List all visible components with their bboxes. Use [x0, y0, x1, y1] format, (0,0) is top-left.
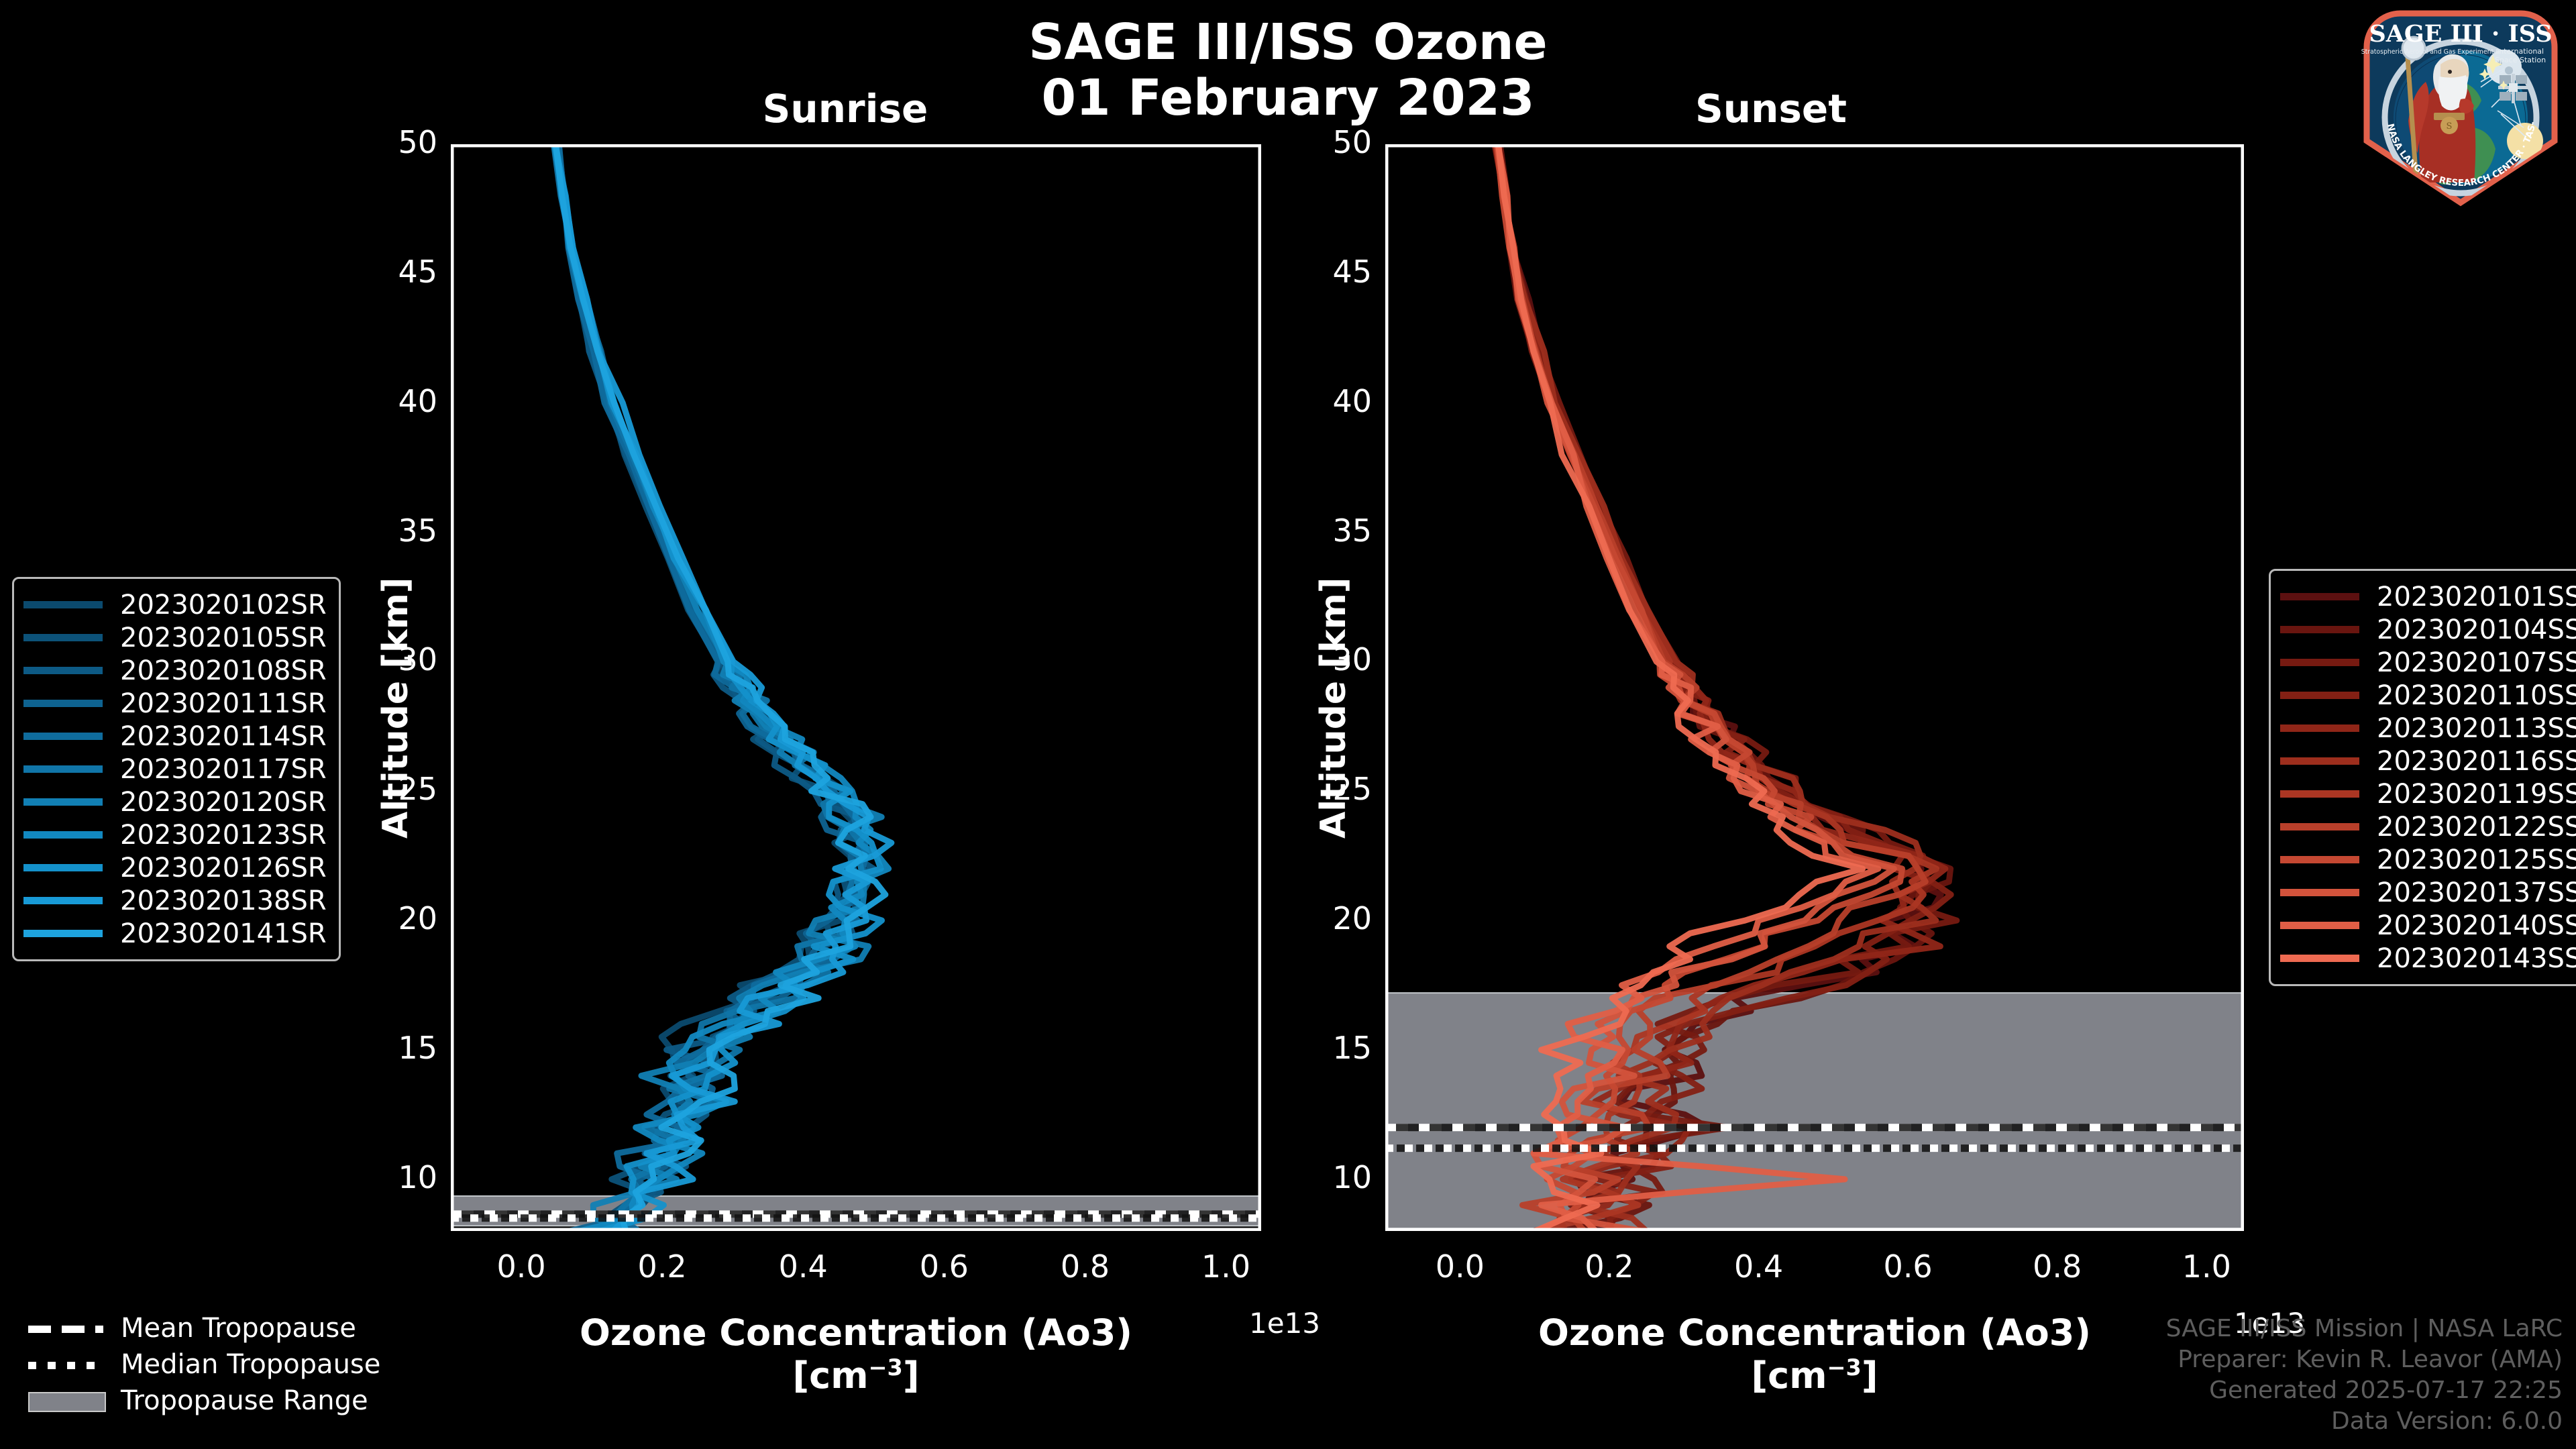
sunset-legend-item[interactable]: 2023020119SS [2280, 777, 2576, 810]
tropopause-range-label: Tropopause Range [121, 1385, 368, 1416]
legend-color-swatch [23, 864, 103, 871]
sunset-legend[interactable]: 2023020101SS2023020104SS2023020107SS2023… [2269, 569, 2576, 986]
tropopause-legend-mean: Mean Tropopause [28, 1311, 380, 1345]
sunrise-y-tick-label: 35 [378, 513, 437, 549]
sunrise-legend-item[interactable]: 2023020138SR [23, 884, 327, 917]
title-line-2: 01 February 2023 [0, 70, 2576, 126]
sunset-x-tick-label: 0.0 [1419, 1248, 1500, 1285]
legend-color-swatch [23, 733, 103, 740]
sunset-x-tick-label: 0.8 [2017, 1248, 2098, 1285]
legend-color-swatch [23, 930, 103, 937]
dotted-line-icon [28, 1356, 103, 1373]
legend-color-swatch [2280, 856, 2359, 863]
page-title: SAGE III/ISS Ozone 01 February 2023 [0, 15, 2576, 126]
legend-item-label: 2023020105SR [120, 623, 327, 653]
sunrise-x-tick-label: 0.4 [763, 1248, 843, 1285]
title-line-1: SAGE III/ISS Ozone [0, 15, 2576, 70]
sunrise-y-tick-label: 20 [378, 900, 437, 936]
legend-color-swatch [2280, 692, 2359, 699]
footer-line-2: Preparer: Kevin R. Leavor (AMA) [2166, 1344, 2563, 1375]
sunset-panel-title: Sunset [1583, 86, 1959, 131]
sunrise-legend-item[interactable]: 2023020120SR [23, 786, 327, 818]
footer-credits: SAGE III/ISS Mission | NASA LaRC Prepare… [2166, 1313, 2563, 1437]
mean-tropopause-label: Mean Tropopause [121, 1313, 356, 1344]
legend-color-swatch [23, 601, 103, 608]
sunset-legend-item[interactable]: 2023020113SS [2280, 712, 2576, 745]
legend-color-swatch [23, 634, 103, 641]
legend-color-swatch [23, 700, 103, 707]
sunrise-y-tick-label: 50 [378, 124, 437, 160]
legend-color-swatch [2280, 889, 2359, 896]
sunrise-legend-item[interactable]: 2023020108SR [23, 654, 327, 687]
sunrise-x-axis-label-line2: [cm−3] [453, 1354, 1258, 1397]
sunset-legend-item[interactable]: 2023020125SS [2280, 843, 2576, 876]
legend-color-swatch [2280, 922, 2359, 929]
sunrise-panel-title: Sunrise [657, 86, 1033, 131]
sunrise-x-tick-label: 0.6 [904, 1248, 984, 1285]
sunrise-plot [451, 144, 1261, 1231]
sunrise-legend-item[interactable]: 2023020141SR [23, 917, 327, 950]
sunset-y-axis-label: Altitude [km] [1313, 577, 1354, 839]
legend-color-swatch [23, 831, 103, 839]
plot-frame [452, 146, 1260, 1230]
iss-icon [2498, 74, 2529, 103]
sunrise-x-axis-label-line1: Ozone Concentration (Ao3) [453, 1311, 1258, 1354]
sunset-y-tick-label: 10 [1313, 1159, 1372, 1195]
legend-color-swatch [23, 667, 103, 674]
ozone-profile-line [557, 144, 861, 1231]
sunrise-legend-item[interactable]: 2023020123SR [23, 818, 327, 851]
legend-item-label: 2023020138SR [120, 885, 327, 916]
sunset-y-tick-label: 45 [1313, 254, 1372, 290]
legend-item-label: 2023020137SS [2377, 877, 2576, 908]
sunset-legend-item[interactable]: 2023020107SS [2280, 646, 2576, 679]
sunset-x-tick-label: 0.2 [1569, 1248, 1650, 1285]
sunrise-plot-svg [451, 144, 1261, 1231]
sunrise-x-tick-label: 0.0 [481, 1248, 561, 1285]
sunset-legend-item[interactable]: 2023020143SS [2280, 942, 2576, 975]
ozone-profile-line [554, 144, 868, 1231]
logo-subtitle-left: Stratospheric Aerosol and Gas Experiment… [2361, 48, 2502, 56]
legend-item-label: 2023020143SS [2377, 943, 2576, 974]
sunset-plot-svg [1385, 144, 2244, 1231]
sunset-y-tick-label: 40 [1313, 383, 1372, 419]
legend-color-swatch [23, 765, 103, 773]
sunrise-x-axis-label: Ozone Concentration (Ao3) [cm−3] [453, 1311, 1258, 1397]
legend-item-label: 2023020120SR [120, 787, 327, 818]
logo-subtitle-right-1: International [2497, 47, 2544, 56]
sunset-x-axis-label-line2: [cm−3] [1387, 1354, 2242, 1397]
legend-item-label: 2023020125SS [2377, 845, 2576, 875]
svg-text:S: S [2447, 121, 2453, 131]
sunrise-legend-item[interactable]: 2023020102SR [23, 588, 327, 621]
legend-color-swatch [23, 897, 103, 904]
legend-item-label: 2023020101SS [2377, 582, 2576, 612]
sunrise-legend-item[interactable]: 2023020111SR [23, 687, 327, 720]
footer-line-1: SAGE III/ISS Mission | NASA LaRC [2166, 1313, 2563, 1344]
sage-iii-iss-logo-svg: S SAGE III · ISS Stratospheric Aerosol a… [2360, 7, 2561, 208]
sunrise-x-tick-label: 1.0 [1185, 1248, 1266, 1285]
legend-color-swatch [2280, 626, 2359, 633]
legend-item-label: 2023020102SR [120, 590, 327, 621]
sunset-legend-item[interactable]: 2023020140SS [2280, 909, 2576, 942]
legend-color-swatch [2280, 955, 2359, 962]
legend-color-swatch [23, 798, 103, 806]
sunrise-y-tick-label: 10 [378, 1159, 437, 1195]
legend-color-swatch [2280, 757, 2359, 765]
tropopause-legend-median: Median Tropopause [28, 1348, 380, 1381]
sunset-plot [1385, 144, 2244, 1231]
sunset-legend-item[interactable]: 2023020104SS [2280, 613, 2576, 646]
legend-item-label: 2023020111SR [120, 688, 327, 719]
sunset-y-tick-label: 15 [1313, 1030, 1372, 1066]
tropopause-legend-range: Tropopause Range [28, 1384, 380, 1417]
sunrise-y-tick-label: 40 [378, 383, 437, 419]
legend-item-label: 2023020123SR [120, 820, 327, 851]
legend-item-label: 2023020113SS [2377, 713, 2576, 744]
sunset-legend-item[interactable]: 2023020101SS [2280, 580, 2576, 613]
sunset-legend-item[interactable]: 2023020110SS [2280, 679, 2576, 712]
sunset-y-tick-label: 20 [1313, 900, 1372, 936]
sage-iii-iss-logo: S SAGE III · ISS Stratospheric Aerosol a… [2360, 7, 2561, 208]
gray-patch-icon [28, 1392, 103, 1409]
logo-subtitle-right-2: Space Station [2495, 56, 2546, 64]
footer-line-3: Generated 2025-07-17 22:25 [2166, 1375, 2563, 1406]
sunrise-y-tick-label: 15 [378, 1030, 437, 1066]
legend-item-label: 2023020116SS [2377, 746, 2576, 777]
sunset-y-tick-label: 35 [1313, 513, 1372, 549]
sunset-legend-item[interactable]: 2023020137SS [2280, 876, 2576, 909]
sunrise-legend-item[interactable]: 2023020117SR [23, 753, 327, 786]
legend-color-swatch [2280, 724, 2359, 732]
sunset-x-axis-label-line1: Ozone Concentration (Ao3) [1387, 1311, 2242, 1354]
dashed-line-icon [28, 1320, 103, 1337]
sunset-x-tick-label: 0.6 [1868, 1248, 1948, 1285]
legend-item-label: 2023020140SS [2377, 910, 2576, 941]
legend-color-swatch [2280, 659, 2359, 666]
tropopause-range-band [1385, 993, 2244, 1228]
sunset-x-tick-label: 0.4 [1719, 1248, 1799, 1285]
sunrise-x-exponent: 1e13 [1249, 1307, 1320, 1340]
sunrise-legend-item[interactable]: 2023020126SR [23, 851, 327, 884]
footer-line-4: Data Version: 6.0.0 [2166, 1406, 2563, 1437]
tropopause-legend: Mean Tropopause Median Tropopause Tropop… [28, 1311, 380, 1420]
legend-item-label: 2023020122SS [2377, 812, 2576, 843]
legend-item-label: 2023020117SR [120, 754, 327, 785]
logo-title: SAGE III · ISS [2369, 20, 2552, 48]
sunrise-y-tick-label: 45 [378, 254, 437, 290]
sunset-x-tick-label: 1.0 [2166, 1248, 2247, 1285]
median-tropopause-label: Median Tropopause [121, 1349, 380, 1380]
legend-item-label: 2023020114SR [120, 721, 327, 752]
sunset-legend-item[interactable]: 2023020116SS [2280, 745, 2576, 777]
legend-item-label: 2023020110SS [2377, 680, 2576, 711]
legend-item-label: 2023020119SS [2377, 779, 2576, 810]
sunset-y-tick-label: 50 [1313, 124, 1372, 160]
sunrise-legend-item[interactable]: 2023020105SR [23, 621, 327, 654]
sunrise-legend[interactable]: 2023020102SR2023020105SR2023020108SR2023… [12, 577, 341, 961]
sunrise-x-tick-label: 0.8 [1044, 1248, 1125, 1285]
legend-item-label: 2023020108SR [120, 655, 327, 686]
sunrise-y-axis-label: Altitude [km] [376, 577, 416, 839]
legend-color-swatch [2280, 790, 2359, 798]
legend-color-swatch [2280, 593, 2359, 600]
sunset-legend-item[interactable]: 2023020122SS [2280, 810, 2576, 843]
sunrise-x-tick-label: 0.2 [622, 1248, 702, 1285]
legend-item-label: 2023020126SR [120, 853, 327, 883]
sunset-x-axis-label: Ozone Concentration (Ao3) [cm−3] [1387, 1311, 2242, 1397]
legend-item-label: 2023020141SR [120, 918, 327, 949]
legend-item-label: 2023020107SS [2377, 647, 2576, 678]
legend-color-swatch [2280, 823, 2359, 830]
legend-item-label: 2023020104SS [2377, 614, 2576, 645]
sunrise-legend-item[interactable]: 2023020114SR [23, 720, 327, 753]
